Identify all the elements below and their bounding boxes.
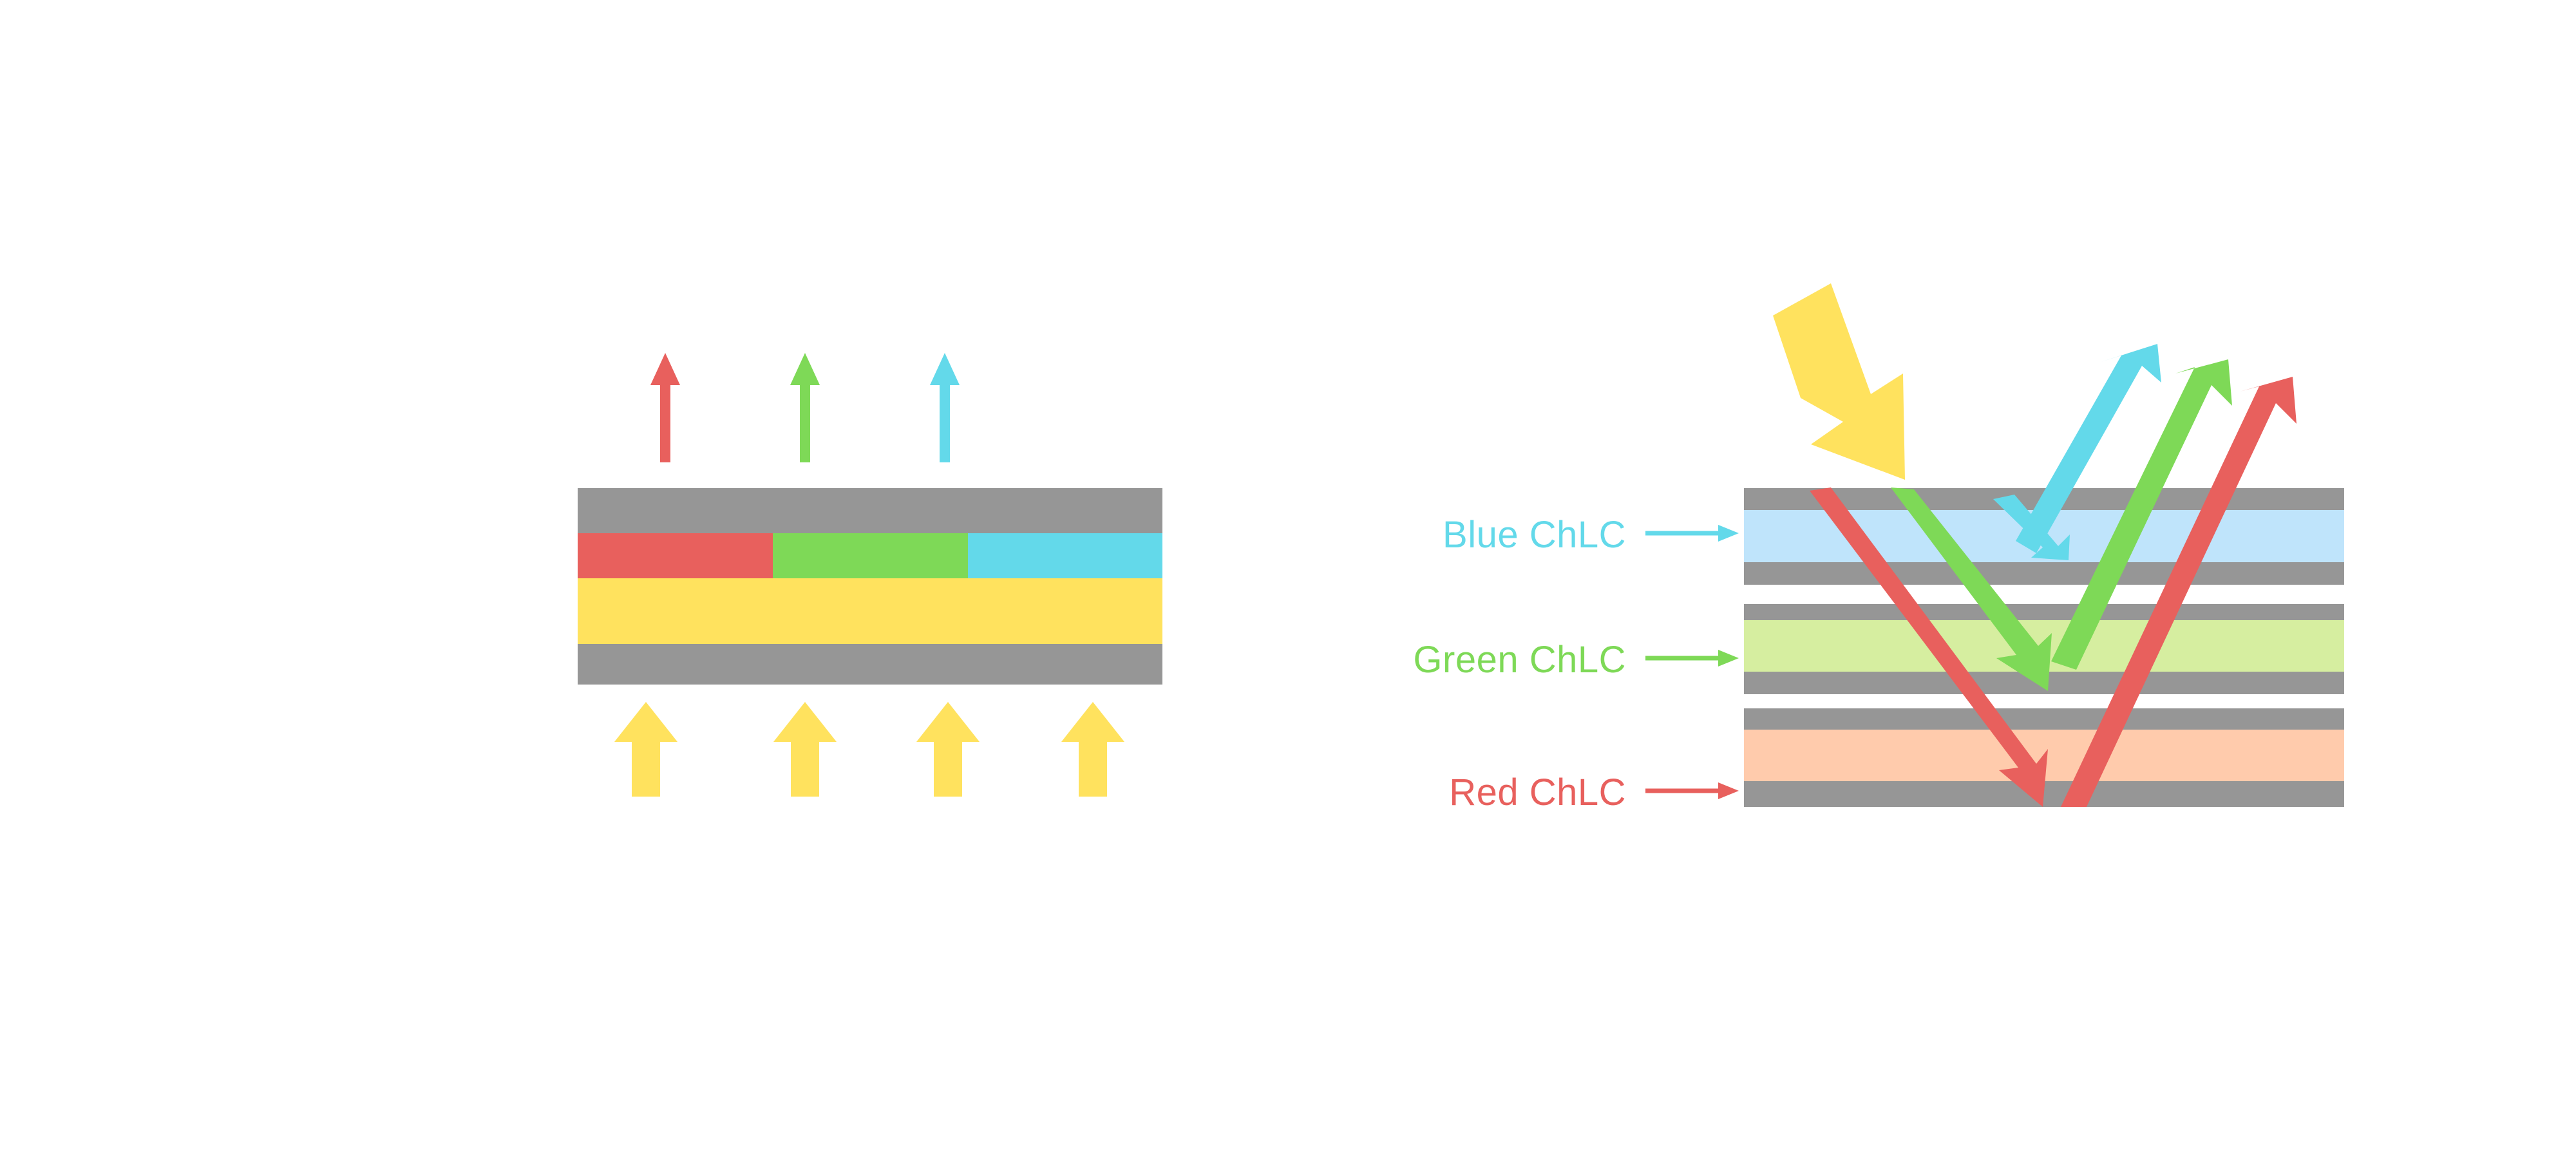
blue-chlc-bottom-electrode	[1744, 562, 2344, 585]
top-electrode	[578, 488, 1162, 533]
red-chlc-label: Red ChLC	[1449, 771, 1626, 813]
blue-chlc-label: Blue ChLC	[1443, 514, 1626, 556]
green-chlc-top-electrode	[1744, 604, 2344, 620]
chlc-display-diagram: Blue ChLC Green ChLC Red ChLC	[0, 0, 2576, 1154]
red-chlc-top-electrode	[1744, 708, 2344, 730]
yellow-backlight-layer	[578, 578, 1162, 644]
blue-filter-segment	[968, 533, 1162, 578]
green-filter-segment	[773, 533, 968, 578]
figure-root: Blue ChLC Green ChLC Red ChLC	[0, 0, 2576, 1154]
red-filter-segment	[578, 533, 773, 578]
left-stack	[578, 488, 1162, 685]
bottom-electrode	[578, 644, 1162, 685]
green-chlc-label: Green ChLC	[1413, 639, 1626, 681]
